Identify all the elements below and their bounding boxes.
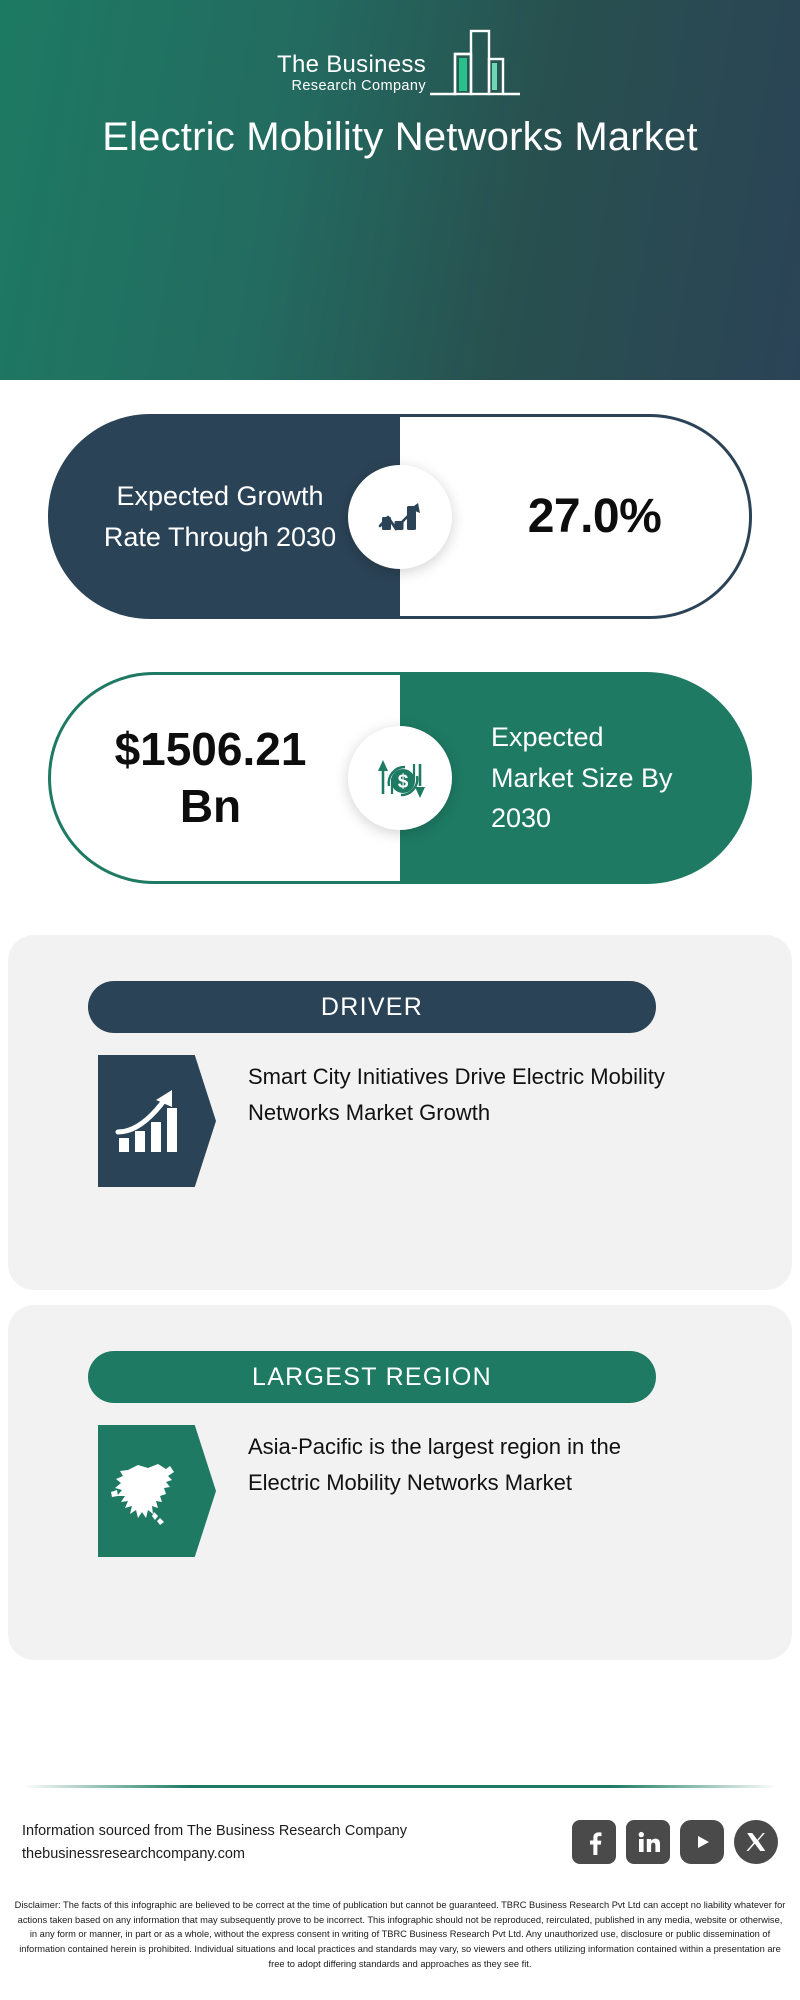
youtube-icon[interactable] xyxy=(680,1820,724,1864)
driver-pill-label: DRIVER xyxy=(321,993,423,1022)
header-banner: The Business Research Company Elec xyxy=(0,0,800,380)
bar-chart-logo-icon xyxy=(427,26,523,103)
stat-card-market-size: $1506.21 Bn Expected Market Size By 2030… xyxy=(48,672,752,884)
infographic-page: The Business Research Company Elec xyxy=(0,0,800,2000)
company-logo: The Business Research Company xyxy=(0,26,800,105)
driver-body: Smart City Initiatives Drive Electric Mo… xyxy=(98,1055,668,1187)
driver-description: Smart City Initiatives Drive Electric Mo… xyxy=(248,1059,668,1130)
disclaimer-text: Disclaimer: The facts of this infographi… xyxy=(14,1898,786,1971)
logo-primary-text: The Business xyxy=(277,52,426,77)
svg-text:$: $ xyxy=(398,772,409,793)
driver-pill: DRIVER xyxy=(88,981,656,1033)
page-title: Electric Mobility Networks Market xyxy=(60,112,740,163)
dollar-cycle-icon: $ xyxy=(348,726,452,830)
footer-divider xyxy=(22,1785,778,1788)
market-size-value: $1506.21 Bn xyxy=(96,721,326,836)
largest-region-pill-label: LARGEST REGION xyxy=(252,1363,492,1392)
logo-secondary-text: Research Company xyxy=(291,78,426,95)
market-size-label: Expected Market Size By 2030 xyxy=(461,717,691,839)
footer-source-line1: Information sourced from The Business Re… xyxy=(22,1820,407,1843)
footer-source-line2[interactable]: thebusinessresearchcompany.com xyxy=(22,1843,407,1866)
largest-region-pill: LARGEST REGION xyxy=(88,1351,656,1403)
growth-rate-value-side: 27.0% xyxy=(400,414,752,619)
footer-source: Information sourced from The Business Re… xyxy=(22,1820,407,1866)
stat-card-growth-rate: 27.0% Expected Growth Rate Through 2030 xyxy=(48,414,752,619)
largest-region-description: Asia-Pacific is the largest region in th… xyxy=(248,1429,668,1500)
growth-rate-value: 27.0% xyxy=(528,489,662,544)
largest-region-panel: LARGEST REGION Asia-Pacific is the large… xyxy=(8,1305,792,1660)
largest-region-body: Asia-Pacific is the largest region in th… xyxy=(98,1425,668,1557)
asia-map-icon xyxy=(98,1425,216,1557)
growth-rate-label: Expected Growth Rate Through 2030 xyxy=(89,476,359,557)
facebook-icon[interactable] xyxy=(572,1820,616,1864)
driver-panel: DRIVER Smart City Initiatives Drive Elec… xyxy=(8,935,792,1290)
x-twitter-icon[interactable] xyxy=(734,1820,778,1864)
linkedin-icon[interactable] xyxy=(626,1820,670,1864)
market-size-label-side: Expected Market Size By 2030 xyxy=(400,672,752,884)
social-links xyxy=(572,1820,778,1864)
growth-chart-arrow-icon xyxy=(348,465,452,569)
bar-growth-arrow-icon xyxy=(98,1055,216,1187)
